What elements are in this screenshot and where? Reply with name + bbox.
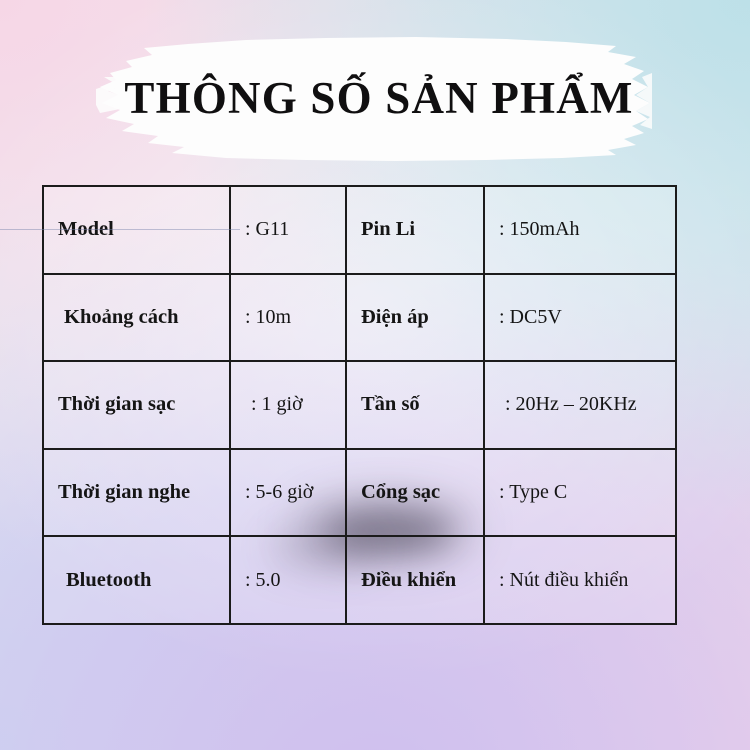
spec-value-khoang-cach: : 10m bbox=[230, 274, 346, 362]
spec-label-dien-ap: Điện áp bbox=[346, 274, 484, 362]
table-row: Thời gian nghe : 5-6 giờ Cổng sạc : Type… bbox=[43, 449, 676, 537]
spec-value-thoi-gian-nghe: : 5-6 giờ bbox=[230, 449, 346, 537]
spec-value-thoi-gian-sac: : 1 giờ bbox=[230, 361, 346, 449]
table-row: Khoảng cách : 10m Điện áp : DC5V bbox=[43, 274, 676, 362]
spec-value-pin-li: : 150mAh bbox=[484, 186, 676, 274]
spec-value-tan-so: : 20Hz – 20KHz bbox=[484, 361, 676, 449]
spec-label-thoi-gian-sac: Thời gian sạc bbox=[43, 361, 230, 449]
spec-label-khoang-cach: Khoảng cách bbox=[43, 274, 230, 362]
table-row: Thời gian sạc : 1 giờ Tần số : 20Hz – 20… bbox=[43, 361, 676, 449]
spec-label-thoi-gian-nghe: Thời gian nghe bbox=[43, 449, 230, 537]
specification-table: Model : G11 Pin Li : 150mAh Khoảng cách … bbox=[42, 185, 677, 625]
spec-label-tan-so: Tần số bbox=[346, 361, 484, 449]
spec-value-dieu-khien: : Nút điều khiển bbox=[484, 536, 676, 624]
spec-value-cong-sac: : Type C bbox=[484, 449, 676, 537]
spec-label-pin-li: Pin Li bbox=[346, 186, 484, 274]
scan-artifact-line bbox=[0, 229, 240, 230]
spec-value-bluetooth: : 5.0 bbox=[230, 536, 346, 624]
spec-label-bluetooth: Bluetooth bbox=[43, 536, 230, 624]
spec-value-dien-ap: : DC5V bbox=[484, 274, 676, 362]
page-title: THÔNG SỐ SẢN PHẨM bbox=[96, 33, 652, 163]
spec-label-dieu-khien: Điều khiển bbox=[346, 536, 484, 624]
table-row: Bluetooth : 5.0 Điều khiển : Nút điều kh… bbox=[43, 536, 676, 624]
spec-label-cong-sac: Cổng sạc bbox=[346, 449, 484, 537]
spec-value-model: : G11 bbox=[230, 186, 346, 274]
title-banner: THÔNG SỐ SẢN PHẨM bbox=[96, 33, 652, 163]
product-spec-poster: THÔNG SỐ SẢN PHẨM Model : G11 Pin Li : 1… bbox=[0, 0, 750, 750]
